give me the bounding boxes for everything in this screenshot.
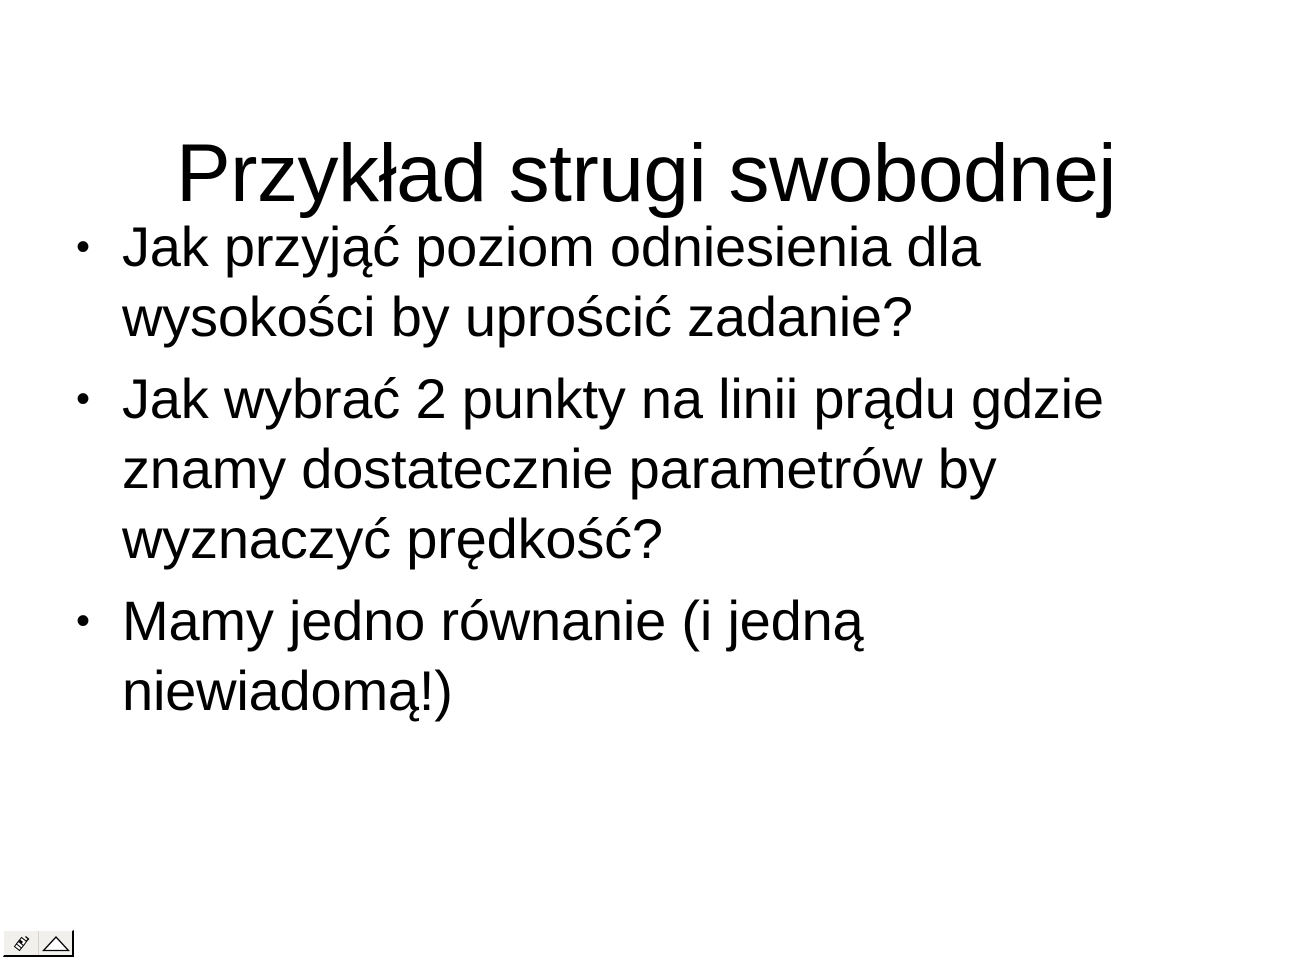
list-item-label: Jak przyjąć poziom odniesienia dla wysok… (122, 212, 1200, 352)
list-item-label: Mamy jedno równanie (i jedną niewiadomą!… (122, 586, 1200, 726)
bullet-list: • Jak przyjąć poziom odniesienia dla wys… (70, 212, 1200, 726)
triangle-shape-icon (42, 935, 70, 952)
list-item: • Jak przyjąć poziom odniesienia dla wys… (70, 212, 1200, 352)
shape-tool-button[interactable] (38, 931, 72, 955)
bullet-point-icon: • (76, 364, 102, 434)
slide-annotation-button[interactable] (4, 931, 38, 955)
presentation-slide: Przykład strugi swobodnej • Jak przyjąć … (0, 0, 1292, 969)
page-title: Przykład strugi swobodnej (0, 127, 1292, 221)
list-item: • Jak wybrać 2 punkty na linii prądu gdz… (70, 364, 1200, 574)
list-item-label: Jak wybrać 2 punkty na linii prądu gdzie… (122, 364, 1200, 574)
slide-annotation-pen-icon (12, 934, 31, 953)
bullet-point-icon: • (76, 586, 102, 656)
list-item: • Mamy jedno równanie (i jedną niewiadom… (70, 586, 1200, 726)
bullet-point-icon: • (76, 212, 102, 282)
slideshow-toolbar[interactable] (3, 930, 74, 957)
